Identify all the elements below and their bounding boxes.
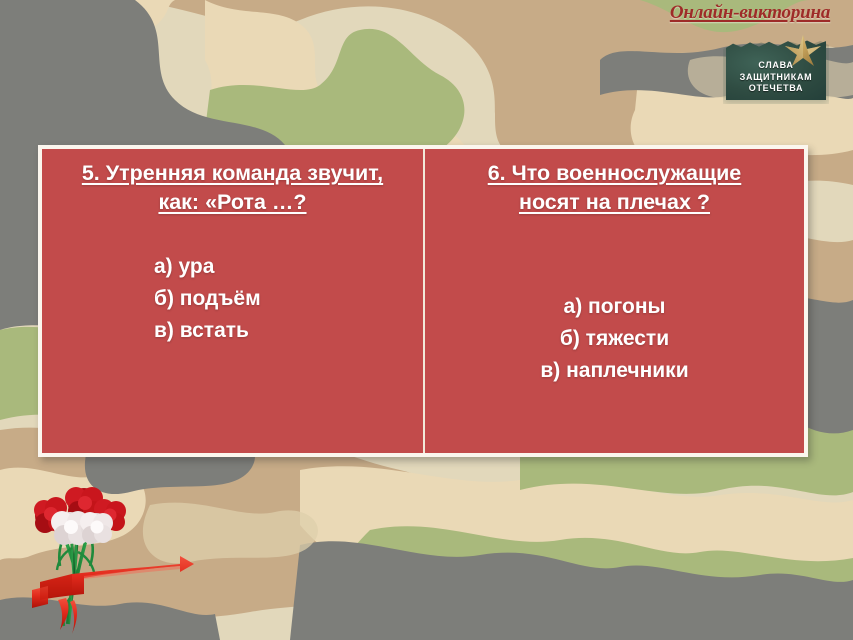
question-6-title-line-2: носят на плечах ? <box>519 190 710 214</box>
question-5-option-a[interactable]: а) ура <box>154 251 413 283</box>
slide-canvas: Онлайн-викторина СЛАВА ЗАЩИТНИ <box>0 0 853 640</box>
question-board-inner: 5. Утренняя команда звучит, как: «Рота …… <box>42 149 804 453</box>
question-6-option-c[interactable]: в) наплечники <box>435 355 794 387</box>
question-panel-5: 5. Утренняя команда звучит, как: «Рота …… <box>42 149 423 453</box>
badge-text: СЛАВА ЗАЩИТНИКАМ ОТЕЧЕТВА <box>726 60 826 95</box>
quiz-banner-title: Онлайн-викторина <box>652 2 848 24</box>
question-6-option-a[interactable]: а) погоны <box>435 291 794 323</box>
badge-line-3: ОТЕЧЕТВА <box>726 83 826 95</box>
carnations-illustration <box>14 478 244 638</box>
question-board: 5. Утренняя команда звучит, как: «Рота …… <box>38 145 808 457</box>
question-panel-6: 6. Что военнослужащие носят на плечах ? … <box>423 149 804 453</box>
badge-line-1: СЛАВА <box>726 60 826 72</box>
question-6-title-line-1: 6. Что военнослужащие <box>488 161 742 185</box>
question-5-option-b[interactable]: б) подъём <box>154 283 413 315</box>
glory-to-defenders-badge: СЛАВА ЗАЩИТНИКАМ ОТЕЧЕТВА <box>726 38 826 100</box>
question-5-title-line-1: 5. Утренняя команда звучит, <box>82 161 383 185</box>
badge-line-2: ЗАЩИТНИКАМ <box>726 72 826 84</box>
question-5-options: а) ура б) подъём в) встать <box>52 251 413 347</box>
question-5-option-c[interactable]: в) встать <box>154 315 413 347</box>
question-5-title-line-2: как: «Рота …? <box>158 190 306 214</box>
white-carnations <box>51 511 113 545</box>
question-6-options: а) погоны б) тяжести в) наплечники <box>435 291 794 387</box>
question-6-option-b[interactable]: б) тяжести <box>435 323 794 355</box>
carnations-with-ribbon <box>14 478 244 638</box>
question-5-title: 5. Утренняя команда звучит, как: «Рота …… <box>52 159 413 217</box>
question-6-title: 6. Что военнослужащие носят на плечах ? <box>435 159 794 217</box>
